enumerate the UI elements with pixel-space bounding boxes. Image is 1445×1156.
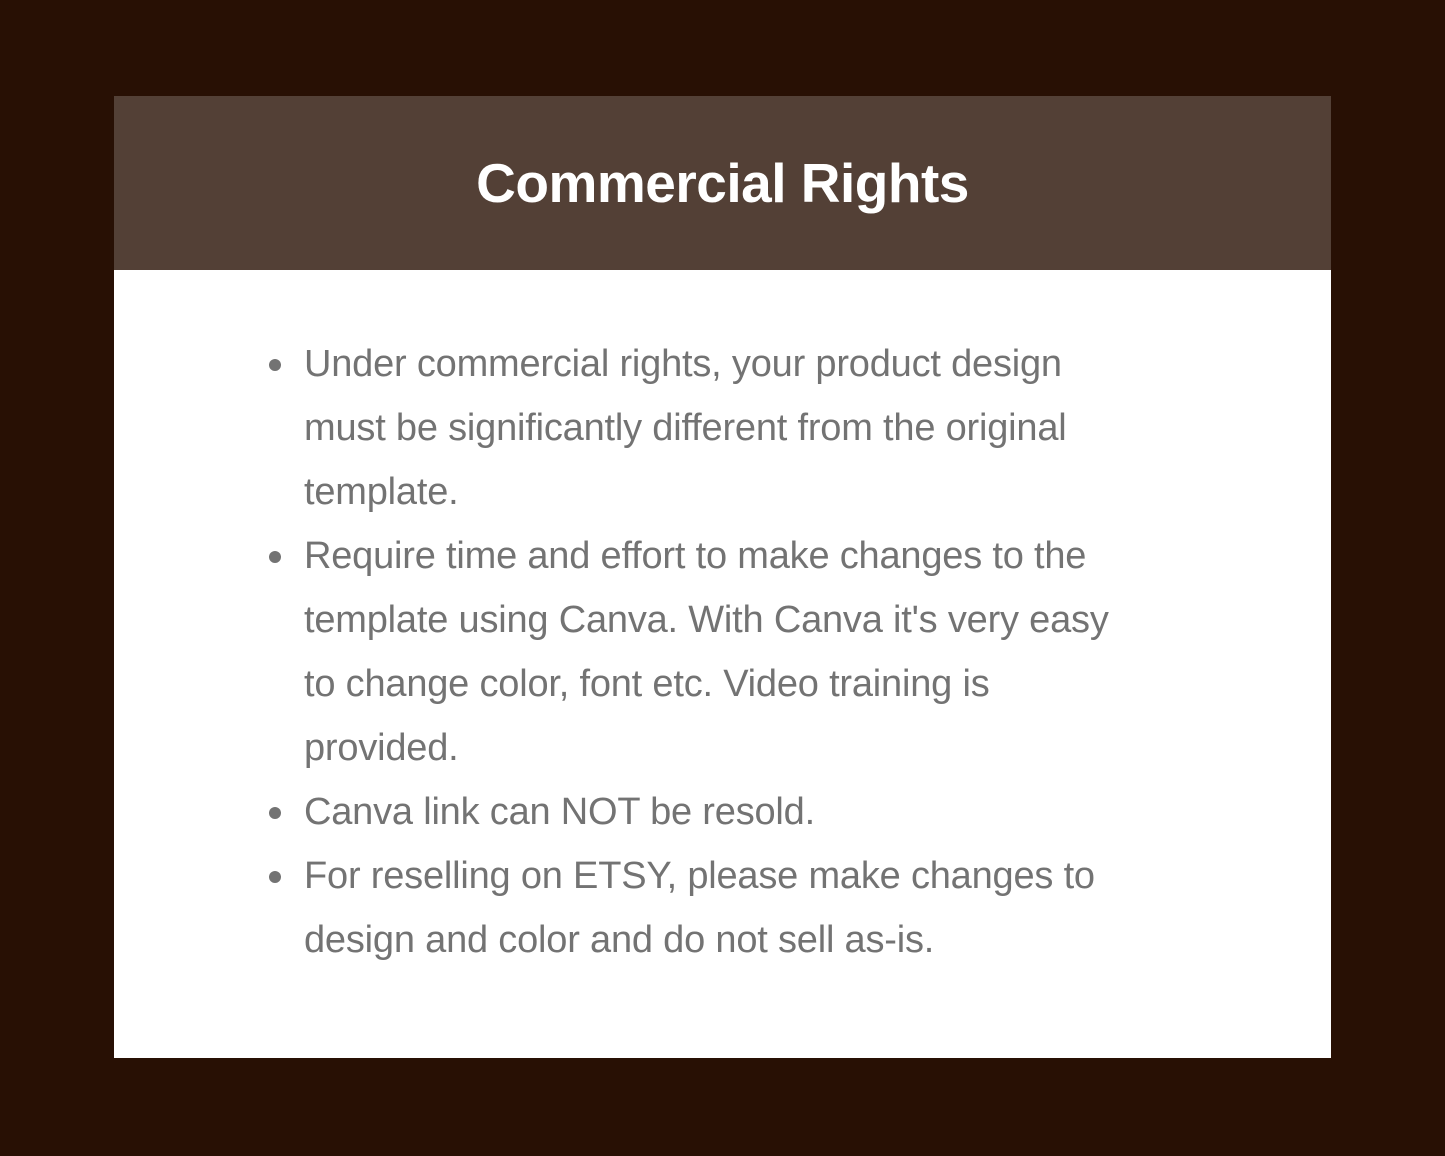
list-item-label: Under commercial rights, your product de… bbox=[304, 343, 1067, 513]
list-item: Under commercial rights, your product de… bbox=[260, 332, 1140, 524]
card-header: Commercial Rights bbox=[114, 96, 1331, 270]
bullet-list: Under commercial rights, your product de… bbox=[260, 332, 1140, 972]
card-body: Under commercial rights, your product de… bbox=[114, 270, 1331, 1058]
content-card: Commercial Rights Under commercial right… bbox=[114, 96, 1331, 1058]
bullet-dot-icon bbox=[269, 551, 281, 563]
list-item-label: For reselling on ETSY, please make chang… bbox=[304, 855, 1095, 961]
list-item: Require time and effort to make changes … bbox=[260, 524, 1140, 780]
list-item: For reselling on ETSY, please make chang… bbox=[260, 844, 1140, 972]
slide-canvas: Commercial Rights Under commercial right… bbox=[0, 0, 1445, 1156]
bullet-dot-icon bbox=[269, 807, 281, 819]
bullet-dot-icon bbox=[269, 359, 281, 371]
list-item-label: Require time and effort to make changes … bbox=[304, 535, 1109, 769]
bullet-dot-icon bbox=[269, 871, 281, 883]
page-title: Commercial Rights bbox=[436, 153, 1009, 214]
list-item: Canva link can NOT be resold. bbox=[260, 780, 1140, 844]
list-item-label: Canva link can NOT be resold. bbox=[304, 791, 815, 833]
